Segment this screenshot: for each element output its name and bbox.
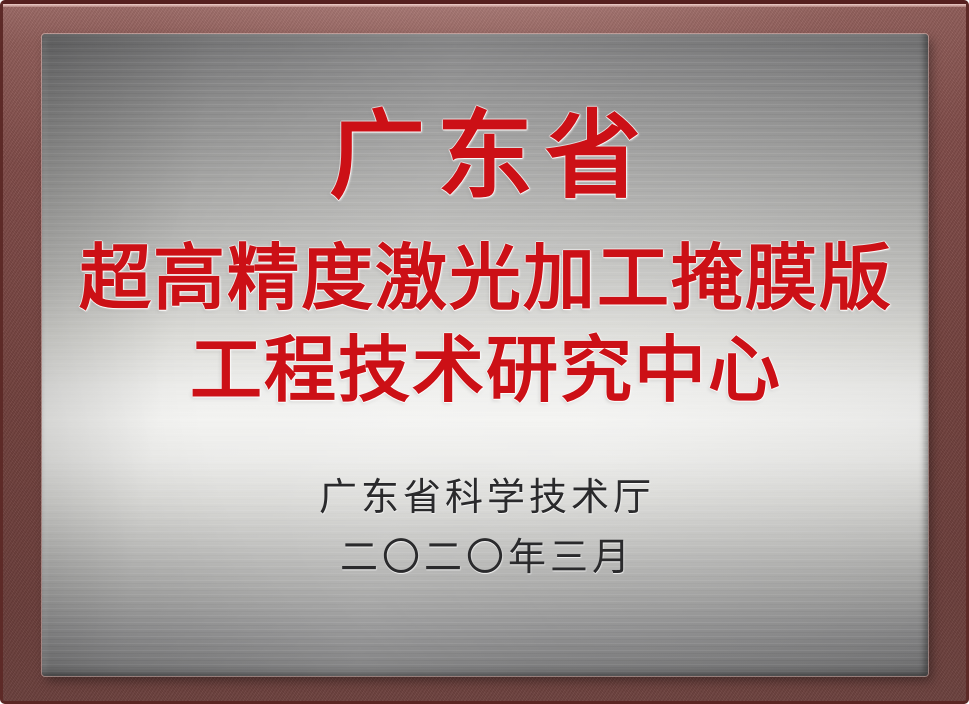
issue-date: 二〇二〇年三月 [336, 538, 634, 576]
issuing-authority: 广东省科学技术厅 [315, 478, 655, 516]
frame-top-bevel-highlight [3, 4, 966, 7]
plaque-text-block: 广东省 超高精度激光加工掩膜版 工程技术研究中心 广东省科学技术厅 二〇二〇年三… [42, 34, 928, 676]
province-title: 广东省 [317, 108, 653, 204]
metal-plate: 广东省 超高精度激光加工掩膜版 工程技术研究中心 广东省科学技术厅 二〇二〇年三… [42, 34, 928, 676]
center-name-line-2: 工程技术研究中心 [188, 334, 782, 406]
plaque-frame: 广东省 超高精度激光加工掩膜版 工程技术研究中心 广东省科学技术厅 二〇二〇年三… [0, 0, 969, 704]
center-name-line-1: 超高精度激光加工掩膜版 [77, 242, 893, 314]
